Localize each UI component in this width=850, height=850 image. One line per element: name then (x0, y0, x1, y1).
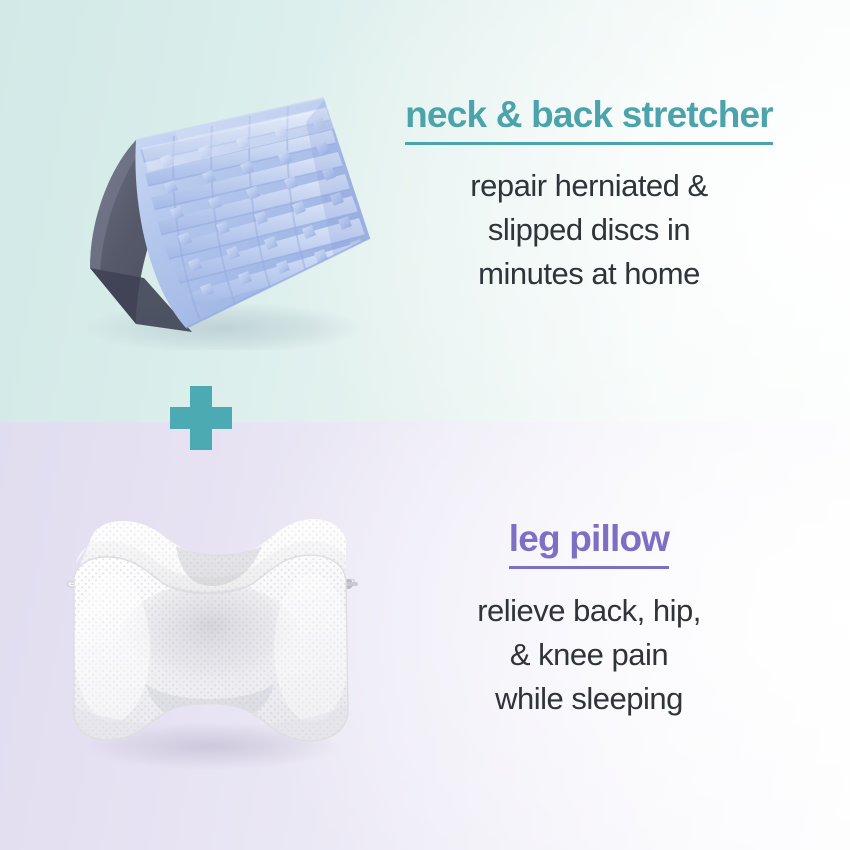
bottom-product-panel: leg pillow relieve back, hip, & knee pai… (0, 422, 850, 850)
bottom-section-text: leg pillow relieve back, hip, & knee pai… (368, 520, 810, 721)
neck-and-back-stretcher-headline: neck & back stretcher (405, 96, 773, 145)
plus-icon-vertical-bar (190, 386, 212, 450)
product-bundle-graphic: neck & back stretcher repair herniated &… (0, 0, 850, 850)
leg-pillow-product-image (56, 498, 368, 790)
subcopy-line: relieve back, hip, (368, 589, 810, 633)
top-section-text: neck & back stretcher repair herniated &… (368, 96, 810, 296)
top-product-panel: neck & back stretcher repair herniated &… (0, 0, 850, 422)
subcopy-line: while sleeping (368, 677, 810, 721)
subcopy-line: minutes at home (368, 252, 810, 296)
neck-and-back-stretcher-subcopy: repair herniated & slipped discs in minu… (368, 164, 810, 296)
subcopy-line: repair herniated & (368, 164, 810, 208)
neck-and-back-stretcher-product-image (24, 88, 380, 350)
subcopy-line: & knee pain (368, 633, 810, 677)
plus-icon (170, 386, 232, 450)
leg-pillow-headline: leg pillow (509, 520, 670, 569)
leg-pillow-subcopy: relieve back, hip, & knee pain while sle… (368, 589, 810, 721)
subcopy-line: slipped discs in (368, 208, 810, 252)
